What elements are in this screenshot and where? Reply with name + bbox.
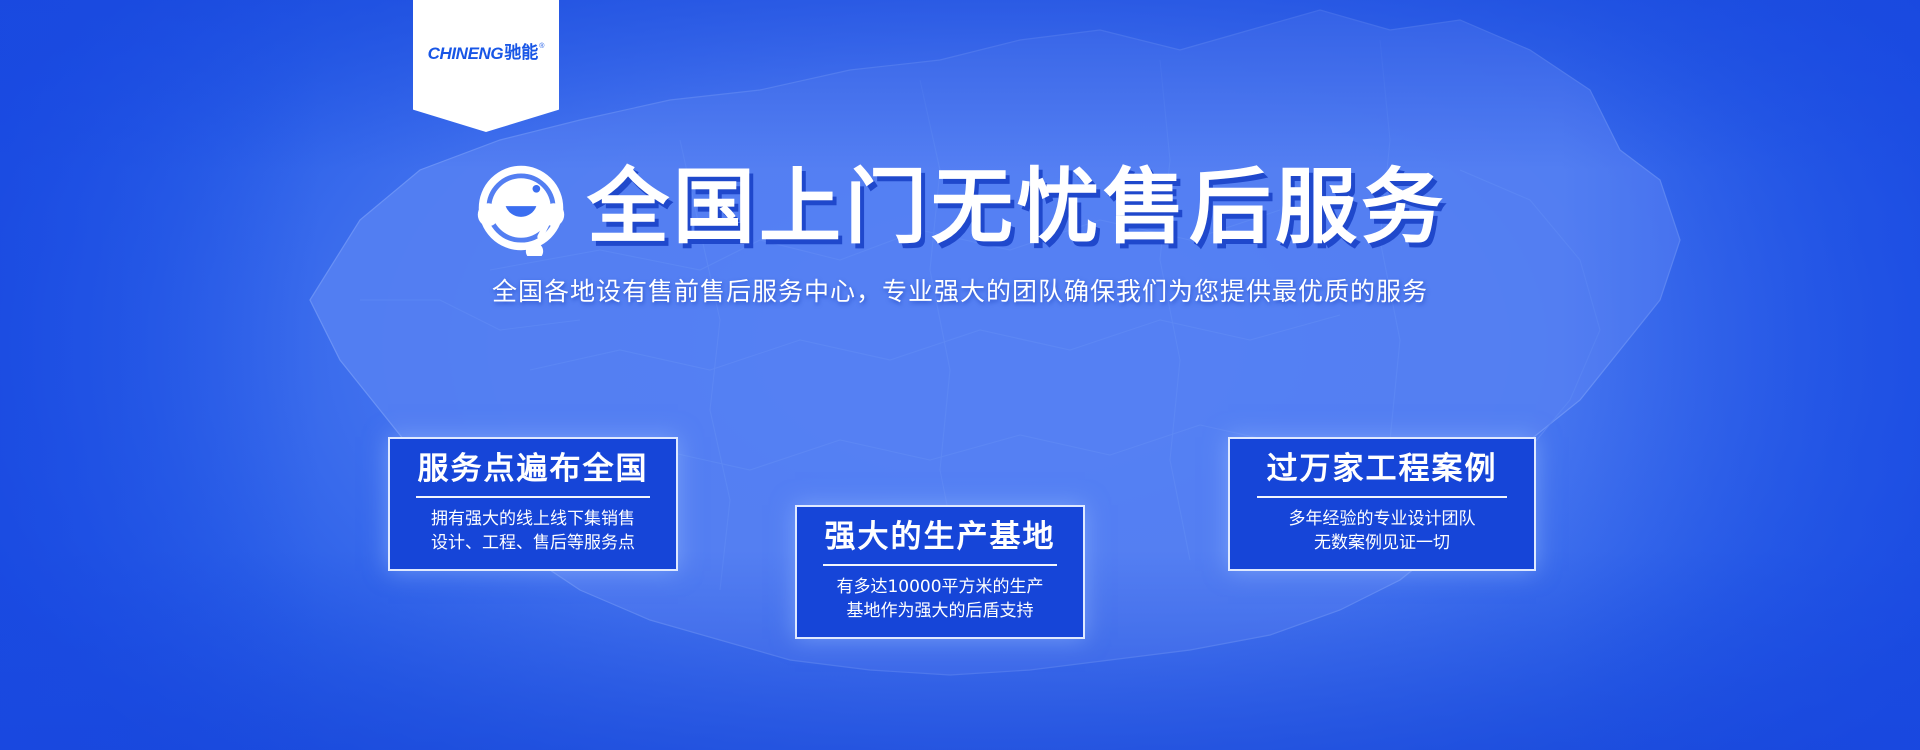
vignette-top bbox=[0, 0, 1920, 170]
vignette-right bbox=[1560, 0, 1920, 750]
feature-card-project-cases[interactable]: 过万家工程案例 多年经验的专业设计团队 无数案例见证一切 bbox=[1228, 437, 1536, 571]
brand-logo-chinese: 驰能 bbox=[504, 45, 538, 62]
brand-logo-latin: CHINENG bbox=[428, 45, 504, 62]
brand-logo: CHINENG 驰能 ® bbox=[428, 45, 545, 62]
registered-trademark-icon: ® bbox=[539, 43, 544, 50]
feature-card-desc-line-2: 设计、工程、售后等服务点 bbox=[406, 531, 660, 555]
feature-card-desc-line-1: 拥有强大的线上线下集销售 bbox=[406, 507, 660, 531]
feature-card-desc-line-1: 有多达10000平方米的生产 bbox=[813, 575, 1067, 599]
feature-card-title: 强大的生产基地 bbox=[813, 519, 1067, 556]
feature-card-divider bbox=[1257, 496, 1507, 498]
feature-card-service-network[interactable]: 服务点遍布全国 拥有强大的线上线下集销售 设计、工程、售后等服务点 bbox=[388, 437, 678, 571]
feature-card-desc-line-1: 多年经验的专业设计团队 bbox=[1246, 507, 1518, 531]
feature-card-divider bbox=[416, 496, 650, 498]
hero-headline-row: 全国上门无忧售后服务 bbox=[0, 160, 1920, 256]
feature-card-desc-line-2: 无数案例见证一切 bbox=[1246, 531, 1518, 555]
hero-subtitle: 全国各地设有售前售后服务中心，专业强大的团队确保我们为您提供最优质的服务 bbox=[0, 272, 1920, 308]
feature-card-production-base[interactable]: 强大的生产基地 有多达10000平方米的生产 基地作为强大的后盾支持 bbox=[795, 505, 1085, 639]
feature-card-title: 服务点遍布全国 bbox=[406, 451, 660, 488]
feature-card-desc-line-2: 基地作为强大的后盾支持 bbox=[813, 599, 1067, 623]
feature-card-title: 过万家工程案例 bbox=[1246, 451, 1518, 488]
feature-card-divider bbox=[823, 564, 1057, 566]
smiley-headset-icon bbox=[473, 160, 569, 256]
vignette-left bbox=[0, 0, 320, 750]
brand-logo-ribbon[interactable]: CHINENG 驰能 ® bbox=[413, 0, 559, 132]
promo-banner: CHINENG 驰能 ® 全国上门无忧售后服务 全国各地设有售前售 bbox=[0, 0, 1920, 750]
page-title: 全国上门无忧售后服务 bbox=[587, 167, 1447, 249]
